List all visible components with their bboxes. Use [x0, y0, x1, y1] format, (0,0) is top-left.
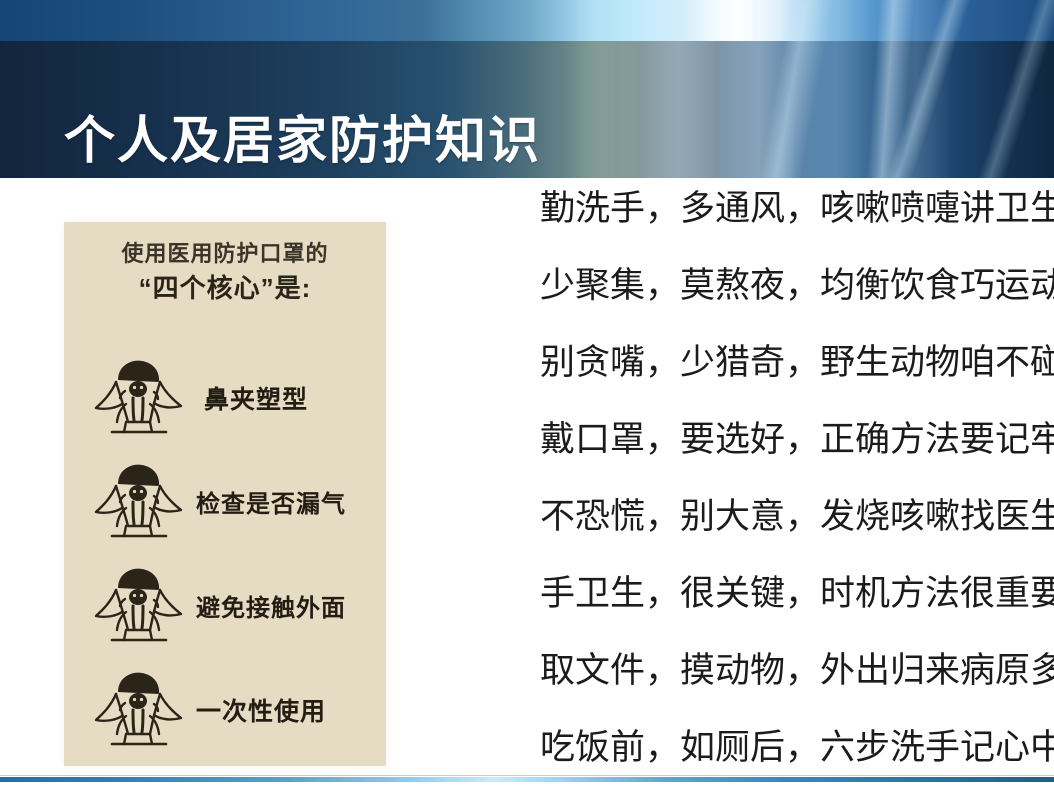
- advice-line: 不恐慌，别大意，发烧咳嗽找医生: [540, 494, 1010, 571]
- panel-heading-line-2: “四个核心”是:: [64, 270, 386, 306]
- advice-line: 手卫生，很关键，时机方法很重要: [540, 571, 1010, 648]
- core-point-label: 检查是否漏气: [196, 484, 368, 519]
- mask-core-points-panel: 使用医用防护口罩的 “四个核心”是:: [64, 222, 386, 766]
- slide-bottom-rule: [0, 777, 1054, 782]
- list-item: 一次性使用: [64, 662, 386, 766]
- masked-person-icon: [88, 456, 188, 552]
- list-item: 鼻夹塑型: [64, 350, 386, 454]
- panel-heading-line-1: 使用医用防护口罩的: [64, 238, 386, 270]
- panel-heading: 使用医用防护口罩的 “四个核心”是:: [64, 222, 386, 306]
- core-points-list: 鼻夹塑型: [64, 350, 386, 766]
- list-item: 避免接触外面: [64, 558, 386, 662]
- slide-title: 个人及居家防护知识: [64, 111, 541, 173]
- advice-line: 别贪嘴，少猎奇，野生动物咱不碰: [540, 340, 1010, 417]
- advice-line: 少聚集，莫熬夜，均衡饮食巧运动: [540, 263, 1010, 340]
- slide-bottom-hairline: [0, 775, 1054, 776]
- health-advice-list: 勤洗手，多通风，咳嗽喷嚏讲卫生 少聚集，莫熬夜，均衡饮食巧运动 别贪嘴，少猎奇，…: [540, 186, 1010, 788]
- masked-person-icon: [88, 560, 188, 656]
- advice-line: 戴口罩，要选好，正确方法要记牢: [540, 417, 1010, 494]
- advice-line: 取文件，摸动物，外出归来病原多: [540, 648, 1010, 725]
- advice-line: 勤洗手，多通风，咳嗽喷嚏讲卫生: [540, 186, 1010, 263]
- masked-person-icon: [88, 352, 188, 448]
- presentation-slide: 个人及居家防护知识 使用医用防护口罩的 “四个核心”是:: [0, 0, 1054, 788]
- banner-top-strip: [0, 0, 1054, 41]
- list-item: 检查是否漏气: [64, 454, 386, 558]
- core-point-label: 鼻夹塑型: [204, 380, 376, 416]
- masked-person-icon: [88, 664, 188, 760]
- core-point-label: 一次性使用: [196, 692, 368, 728]
- core-point-label: 避免接触外面: [196, 588, 368, 623]
